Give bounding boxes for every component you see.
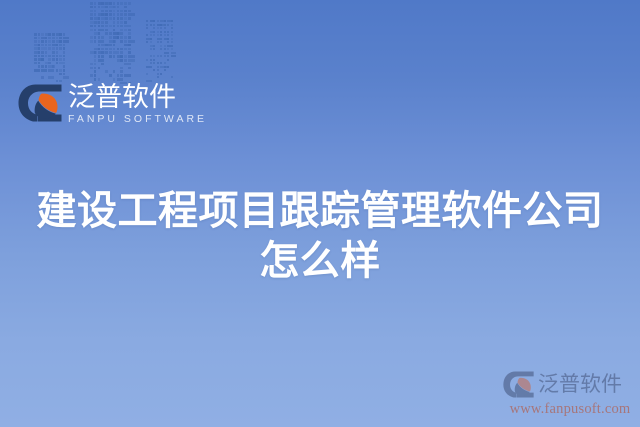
digital-city-dot (157, 62, 159, 64)
digital-city-dot (105, 6, 108, 9)
digital-city-dot (117, 36, 120, 39)
digital-city-dot (56, 47, 59, 50)
digital-city-dot (56, 37, 59, 40)
digital-city-dot (120, 13, 123, 16)
digital-city-dot (113, 21, 116, 24)
digital-city-dot (105, 44, 112, 47)
digital-city-dot (94, 10, 97, 13)
watermark-logo-row: 泛普软件 (503, 369, 637, 399)
digital-city-dot (128, 48, 131, 51)
digital-city-dot (150, 41, 152, 43)
digital-city-dot (48, 40, 51, 43)
digital-city-dot (63, 65, 66, 68)
digital-city-dot (124, 21, 127, 24)
digital-city-dot (117, 74, 120, 77)
digital-city-dot (160, 66, 166, 68)
digital-city-dot (120, 25, 123, 28)
digital-city-dot (105, 17, 108, 20)
digital-city-pattern (34, 0, 174, 88)
digital-city-dot (160, 20, 166, 22)
fanpu-logo-mark-icon (18, 84, 62, 122)
digital-city-dot (160, 73, 162, 75)
digital-city-dot (117, 48, 120, 51)
digital-city-dot (63, 73, 66, 76)
digital-city-dot (101, 17, 108, 20)
digital-city-dot (164, 66, 170, 68)
digital-city-dot (146, 34, 148, 36)
digital-city-dot (113, 70, 116, 73)
digital-city-dot (128, 40, 135, 43)
digital-city-dot (113, 48, 116, 51)
digital-city-dot (105, 32, 108, 35)
digital-city-dot (117, 17, 120, 20)
digital-city-dot (90, 13, 93, 16)
digital-city-dot (124, 74, 131, 77)
watermark-brand-name: 泛普软件 (538, 372, 622, 396)
digital-city-dot (105, 13, 108, 16)
digital-city-dot (34, 55, 37, 58)
digital-city-dot (146, 27, 148, 29)
digital-city-dot (171, 55, 177, 57)
digital-city-dot (41, 40, 44, 43)
digital-city-dot (98, 67, 101, 70)
digital-city-dot (153, 59, 155, 61)
digital-city-dot (38, 51, 41, 54)
digital-city-dot (164, 31, 166, 33)
digital-city-dot (167, 45, 173, 47)
digital-city-dot (160, 62, 162, 64)
digital-city-dot (90, 63, 93, 66)
digital-city-dot (94, 51, 97, 54)
digital-city-dot (120, 67, 123, 70)
digital-city-dot (164, 45, 166, 47)
digital-city-dot (171, 24, 173, 26)
digital-city-dot (98, 40, 105, 43)
digital-city-dot (117, 55, 124, 58)
digital-city-dot (41, 37, 47, 40)
digital-city-column (146, 20, 174, 88)
digital-city-dot (146, 24, 148, 26)
digital-city-dot (128, 10, 131, 13)
digital-city-dot (171, 27, 173, 29)
digital-city-dot (90, 40, 93, 43)
digital-city-dot (113, 6, 116, 9)
digital-city-dot (157, 73, 159, 75)
digital-city-dot (90, 25, 93, 28)
digital-city-dot (124, 36, 127, 39)
digital-city-dot (98, 25, 101, 28)
digital-city-dot (56, 58, 59, 61)
digital-city-dot (160, 41, 162, 43)
digital-city-dot (56, 55, 59, 58)
digital-city-dot (167, 41, 169, 43)
digital-city-dot (59, 47, 62, 50)
digital-city-dot (94, 59, 97, 62)
digital-city-dot (63, 40, 69, 43)
digital-city-dot (164, 24, 166, 26)
digital-city-dot (38, 58, 44, 61)
digital-city-dot (171, 41, 173, 43)
digital-city-dot (98, 78, 101, 81)
digital-city-dot (157, 31, 159, 33)
digital-city-dot (63, 69, 66, 72)
digital-city-dot (90, 2, 93, 5)
digital-city-dot (160, 45, 162, 47)
digital-city-dot (160, 55, 162, 57)
digital-city-dot (52, 40, 55, 43)
digital-city-dot (113, 10, 116, 13)
digital-city-dot (164, 62, 166, 64)
digital-city-dot (157, 34, 159, 36)
digital-city-dot (98, 48, 101, 51)
digital-city-dot (34, 62, 37, 65)
digital-city-dot (150, 34, 152, 36)
digital-city-dot (171, 48, 173, 50)
digital-city-dot (34, 58, 37, 61)
digital-city-dot (157, 76, 159, 78)
digital-city-dot (101, 44, 108, 47)
digital-city-dot (153, 31, 155, 33)
digital-city-dot (56, 80, 59, 83)
digital-city-dot (101, 25, 104, 28)
digital-city-dot (38, 47, 41, 50)
digital-city-dot (94, 63, 97, 66)
digital-city-dot (167, 38, 169, 40)
digital-city-dot (45, 55, 48, 58)
digital-city-dot (59, 40, 62, 43)
digital-city-dot (56, 51, 59, 54)
digital-city-dot (171, 76, 173, 78)
digital-city-dot (98, 44, 101, 47)
digital-city-dot (157, 41, 159, 43)
digital-city-dot (124, 17, 127, 20)
digital-city-dot (150, 20, 156, 22)
digital-city-dot (150, 55, 152, 57)
brand-name-cn: 泛普软件 (68, 83, 207, 112)
digital-city-dot (94, 21, 101, 24)
digital-city-dot (109, 13, 112, 16)
digital-city-dot (120, 36, 123, 39)
digital-city-dot (34, 33, 37, 36)
digital-city-dot (52, 58, 55, 61)
digital-city-dot (45, 65, 48, 68)
digital-city-dot (63, 76, 69, 79)
digital-city-dot (38, 44, 41, 47)
digital-city-dot (113, 55, 116, 58)
digital-city-dot (167, 59, 169, 61)
digital-city-dot (128, 59, 135, 62)
digital-city-dot (34, 51, 40, 54)
digital-city-dot (101, 63, 104, 66)
digital-city-dot (150, 48, 152, 50)
brand-logo-wordmark: 泛普软件 FANPU SOFTWARE (68, 83, 207, 125)
digital-city-dot (98, 21, 101, 24)
digital-city-dot (98, 29, 105, 32)
digital-city-dot (38, 62, 41, 65)
digital-city-dot (98, 13, 105, 16)
digital-city-dot (34, 47, 40, 50)
digital-city-dot (45, 40, 48, 43)
digital-city-dot (157, 66, 159, 68)
digital-city-dot (109, 40, 116, 43)
digital-city-dot (167, 20, 173, 22)
digital-city-dot (167, 55, 169, 57)
digital-city-dot (160, 31, 162, 33)
digital-city-dot (113, 78, 116, 81)
digital-city-dot (45, 51, 48, 54)
headline: 建设工程项目跟踪管理软件公司 怎么样 (0, 186, 640, 286)
digital-city-dot (128, 17, 131, 20)
headline-line-1: 建设工程项目跟踪管理软件公司 (0, 186, 640, 236)
digital-city-dot (128, 32, 131, 35)
digital-city-dot (94, 29, 97, 32)
digital-city-dot (48, 55, 51, 58)
digital-city-dot (113, 13, 116, 16)
digital-city-dot (120, 2, 123, 5)
digital-city-dot (48, 62, 51, 65)
digital-city-dot (56, 69, 59, 72)
digital-city-dot (59, 73, 62, 76)
fanpu-logo-mark-watermark-icon (503, 371, 534, 398)
digital-city-dot (41, 47, 47, 50)
digital-city-dot (120, 70, 123, 73)
digital-city-dot (109, 17, 112, 20)
digital-city-dot (63, 37, 69, 40)
digital-city-dot (124, 55, 127, 58)
digital-city-dot (164, 48, 166, 50)
promo-banner: 泛普软件 FANPU SOFTWARE 建设工程项目跟踪管理软件公司 怎么样 泛… (0, 0, 640, 427)
digital-city-dot (171, 20, 173, 22)
digital-city-dot (101, 10, 104, 13)
digital-city-dot (90, 21, 97, 24)
digital-city-dot (41, 58, 44, 61)
digital-city-dot (164, 52, 170, 54)
digital-city-dot (38, 55, 41, 58)
digital-city-dot (38, 65, 41, 68)
digital-city-dot (41, 69, 47, 72)
digital-city-dot (105, 29, 108, 32)
digital-city-dot (113, 44, 116, 47)
digital-city-dot (160, 27, 162, 29)
digital-city-dot (63, 44, 66, 47)
digital-city-dot (52, 47, 55, 50)
digital-city-dot (41, 76, 44, 79)
digital-city-dot (52, 33, 55, 36)
digital-city-dot (153, 45, 155, 47)
watermark: 泛普软件 www.fanpusoft.com (503, 369, 637, 421)
digital-city-dot (109, 10, 112, 13)
digital-city-dot (167, 31, 169, 33)
digital-city-dot (45, 62, 51, 65)
digital-city-dot (94, 32, 101, 35)
digital-city-column (90, 2, 132, 88)
digital-city-dot (128, 44, 131, 47)
digital-city-dot (157, 55, 159, 57)
digital-city-dot (120, 59, 123, 62)
digital-city-dot (157, 69, 159, 71)
digital-city-dot (94, 74, 97, 77)
digital-city-dot (146, 73, 148, 75)
digital-city-dot (109, 6, 116, 9)
digital-city-dot (109, 48, 112, 51)
digital-city-dot (124, 29, 127, 32)
digital-city-dot (34, 69, 40, 72)
digital-city-dot (113, 32, 120, 35)
digital-city-dot (109, 51, 112, 54)
brand-logo: 泛普软件 FANPU SOFTWARE (18, 83, 207, 131)
digital-city-dot (117, 59, 124, 62)
digital-city-dot (150, 62, 152, 64)
digital-city-dot (56, 40, 62, 43)
digital-city-dot (98, 55, 101, 58)
digital-city-dot (167, 34, 169, 36)
digital-city-dot (117, 25, 120, 28)
digital-city-dot (105, 21, 108, 24)
digital-city-dot (109, 25, 112, 28)
digital-city-dot (90, 51, 97, 54)
digital-city-dot (124, 44, 131, 47)
digital-city-dot (153, 24, 155, 26)
digital-city-dot (113, 17, 116, 20)
digital-city-dot (101, 13, 108, 16)
digital-city-dot (117, 13, 120, 16)
digital-city-dot (90, 29, 93, 32)
digital-city-dot (128, 2, 131, 5)
digital-city-dot (157, 27, 159, 29)
digital-city-dot (98, 2, 105, 5)
digital-city-dot (52, 65, 55, 68)
digital-city-dot (117, 32, 124, 35)
digital-city-dot (34, 44, 40, 47)
digital-city-dot (48, 44, 51, 47)
digital-city-dot (109, 74, 112, 77)
digital-city-dot (52, 44, 58, 47)
digital-city-dot (157, 24, 163, 26)
digital-city-dot (124, 10, 127, 13)
digital-city-dot (94, 40, 97, 43)
digital-city-dot (120, 29, 123, 32)
digital-city-dot (109, 36, 112, 39)
digital-city-dot (167, 66, 169, 68)
digital-city-dot (98, 6, 101, 9)
digital-city-dot (153, 20, 155, 22)
digital-city-dot (101, 48, 104, 51)
digital-city-dot (153, 48, 155, 50)
digital-city-dot (150, 31, 156, 33)
digital-city-dot (90, 36, 93, 39)
digital-city-dot (63, 47, 66, 50)
digital-city-dot (153, 34, 155, 36)
digital-city-dot (153, 62, 155, 64)
digital-city-dot (63, 33, 66, 36)
digital-city-dot (94, 55, 97, 58)
digital-city-dot (41, 44, 44, 47)
digital-city-dot (124, 63, 131, 66)
digital-city-dot (48, 47, 51, 50)
digital-city-dot (94, 13, 97, 16)
digital-city-dot (128, 67, 131, 70)
digital-city-dot (167, 48, 169, 50)
digital-city-dot (105, 70, 108, 73)
digital-city-dot (153, 27, 155, 29)
digital-city-dot (109, 32, 112, 35)
digital-city-dot (63, 55, 66, 58)
digital-city-dot (90, 74, 93, 77)
digital-city-dot (150, 59, 152, 61)
digital-city-dot (56, 62, 59, 65)
digital-city-dot (167, 24, 169, 26)
digital-city-dot (94, 78, 97, 81)
digital-city-dot (109, 55, 112, 58)
digital-city-dot (171, 38, 173, 40)
digital-city-dot (56, 33, 62, 36)
digital-city-dot (124, 2, 127, 5)
digital-city-dot (124, 25, 131, 28)
digital-city-dot (98, 17, 101, 20)
digital-city-dot (94, 48, 101, 51)
digital-city-dot (109, 2, 112, 5)
digital-city-dot (94, 67, 97, 70)
digital-city-dot (146, 38, 152, 40)
digital-city-dot (45, 33, 51, 36)
digital-city-dot (90, 10, 93, 13)
digital-city-dot (120, 40, 123, 43)
digital-city-dot (101, 36, 104, 39)
digital-city-dot (38, 37, 41, 40)
digital-city-dot (105, 25, 108, 28)
digital-city-dot (150, 24, 152, 26)
digital-city-dot (59, 69, 62, 72)
digital-city-dot (34, 40, 37, 43)
digital-city-dot (56, 44, 59, 47)
digital-city-dot (120, 17, 123, 20)
brand-name-en: FANPU SOFTWARE (68, 113, 207, 125)
digital-city-dot (164, 55, 166, 57)
digital-city-dot (98, 59, 105, 62)
digital-city-dot (124, 6, 127, 9)
digital-city-dot (98, 32, 101, 35)
digital-city-dot (101, 6, 108, 9)
digital-city-dot (113, 36, 120, 39)
digital-city-dot (98, 51, 105, 54)
digital-city-dot (94, 17, 101, 20)
digital-city-dot (146, 20, 148, 22)
digital-city-dot (59, 62, 65, 65)
digital-city-dot (117, 78, 124, 81)
headline-line-2: 怎么样 (0, 236, 640, 286)
digital-city-dot (38, 40, 41, 43)
digital-city-dot (153, 55, 155, 57)
digital-city-dot (94, 36, 97, 39)
digital-city-dot (120, 10, 123, 13)
digital-city-dot (120, 21, 123, 24)
digital-city-dot (48, 69, 54, 72)
digital-city-dot (41, 33, 44, 36)
digital-city-dot (117, 21, 120, 24)
digital-city-dot (48, 76, 54, 79)
digital-city-dot (38, 33, 41, 36)
digital-city-dot (48, 33, 51, 36)
digital-city-dot (59, 33, 62, 36)
digital-city-dot (124, 48, 127, 51)
digital-city-dot (45, 44, 48, 47)
digital-city-dot (124, 13, 127, 16)
digital-city-dot (120, 74, 123, 77)
digital-city-dot (113, 29, 116, 32)
digital-city-dot (113, 51, 120, 54)
digital-city-dot (41, 55, 44, 58)
digital-city-dot (34, 37, 37, 40)
